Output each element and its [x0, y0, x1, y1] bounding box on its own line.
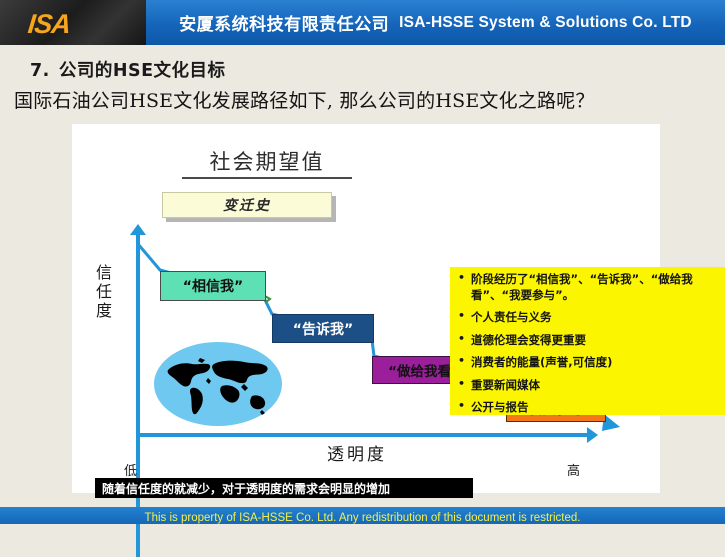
page-footer: This is property of ISA-HSSE Co. Ltd. An… — [0, 507, 725, 524]
list-item: 阶段经历了“相信我”、“告诉我”、“做给我看”、“我要参与”。 — [458, 272, 720, 303]
logo-backdrop: ISA — [0, 0, 146, 45]
list-item: 个人责任与义务 — [458, 310, 720, 326]
list-item: 重要新闻媒体 — [458, 378, 720, 394]
chart-subtitle: 变迁史 — [223, 195, 271, 215]
step-label-2: “告诉我” — [293, 319, 353, 339]
step-box-2[interactable]: “告诉我” — [272, 314, 374, 343]
x-axis-tick-low: 低 — [124, 460, 137, 479]
section-title: 公司的HSE文化目标 — [59, 61, 226, 81]
chart-subtitle-plaque: 变迁史 — [162, 192, 332, 218]
world-globe-icon — [152, 340, 284, 428]
page-subtitle: 国际石油公司HSE文化发展路径如下, 那么公司的HSE文化之路呢？ — [14, 86, 714, 113]
section-number: 7. — [30, 61, 50, 81]
header-band: 安厦系统科技有限责任公司 ISA-HSSE System & Solutions… — [146, 0, 725, 45]
page-title: 7.公司的HSE文化目标 — [30, 57, 690, 82]
x-axis-line — [136, 433, 591, 437]
list-item: 道德伦理会变得更重要 — [458, 333, 720, 349]
app-header: ISA 安厦系统科技有限责任公司 ISA-HSSE System & Solut… — [0, 0, 725, 45]
header-title: 安厦系统科技有限责任公司 ISA-HSSE System & Solutions… — [146, 0, 725, 45]
company-name-cn: 安厦系统科技有限责任公司 — [179, 10, 389, 35]
isa-logo: ISA — [26, 9, 71, 40]
chart-panel: 社会期望值 变迁史 信任度 透明度 低 高 “相信我” “告 — [72, 124, 660, 493]
x-axis-arrow-icon — [587, 427, 598, 443]
caption-text: 随着信任度的就减少，对于透明度的需求会明显的增加 — [102, 480, 390, 497]
bullet-panel: 阶段经历了“相信我”、“告诉我”、“做给我看”、“我要参与”。 个人责任与义务 … — [450, 267, 725, 415]
step-label-1: “相信我” — [183, 276, 243, 296]
x-axis-tick-high: 高 — [567, 460, 580, 479]
bullet-list: 阶段经历了“相信我”、“告诉我”、“做给我看”、“我要参与”。 个人责任与义务 … — [458, 272, 720, 416]
list-item: 消费者的能量(声誉,可信度) — [458, 355, 720, 371]
company-name-en: ISA-HSSE System & Solutions Co. LTD — [399, 14, 692, 32]
list-item: 公开与报告 — [458, 400, 720, 416]
caption-bar: 随着信任度的就减少，对于透明度的需求会明显的增加 — [95, 478, 473, 498]
y-axis-label: 信任度 — [90, 264, 114, 321]
footer-text: This is property of ISA-HSSE Co. Ltd. An… — [145, 512, 581, 524]
x-axis-label: 透明度 — [327, 440, 387, 465]
chart-title: 社会期望值 — [182, 146, 352, 179]
step-box-1[interactable]: “相信我” — [160, 271, 266, 301]
